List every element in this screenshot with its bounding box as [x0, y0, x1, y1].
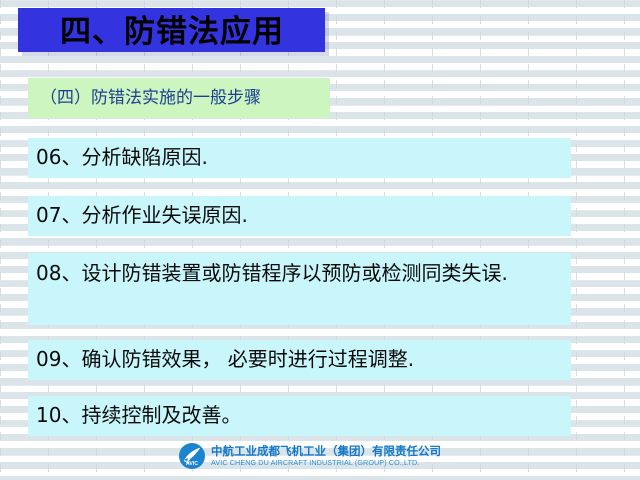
- page-title: 四、防错法应用: [60, 14, 284, 50]
- step-row: 06、分析缺陷原因.: [28, 138, 571, 178]
- slide-canvas: 四、防错法应用 （四）防错法实施的一般步骤 06、分析缺陷原因. 07、分析作业…: [0, 0, 640, 480]
- step-row: 08、设计防错装置或防错程序以预防或检测同类失误.: [28, 253, 571, 325]
- step-text-08: 08、设计防错装置或防错程序以预防或检测同类失误.: [36, 259, 566, 288]
- step-text-09: 09、确认防错效果， 必要时进行过程调整.: [36, 345, 414, 374]
- step-row: 09、确认防错效果， 必要时进行过程调整.: [28, 340, 571, 380]
- avic-logo-icon: AVIC: [178, 442, 206, 470]
- company-name-en: AVIC CHENG DU AIRCRAFT INDUSTRIAL (GROUP…: [211, 459, 441, 466]
- step-text-10: 10、持续控制及改善。: [36, 401, 241, 430]
- step-text-06: 06、分析缺陷原因.: [36, 143, 208, 172]
- svg-text:AVIC: AVIC: [186, 461, 198, 467]
- company-name-cn: 中航工业成都飞机工业（集团）有限责任公司: [211, 446, 441, 458]
- footer-logo: AVIC 中航工业成都飞机工业（集团）有限责任公司 AVIC CHENG DU …: [178, 441, 441, 471]
- slide-subtitle-box: （四）防错法实施的一般步骤: [28, 78, 330, 118]
- logo-text-block: 中航工业成都飞机工业（集团）有限责任公司 AVIC CHENG DU AIRCR…: [211, 446, 441, 467]
- step-row: 10、持续控制及改善。: [28, 396, 571, 436]
- slide-subtitle: （四）防错法实施的一般步骤: [40, 86, 261, 110]
- step-text-07: 07、分析作业失误原因.: [36, 201, 248, 230]
- slide-title-banner: 四、防错法应用: [18, 8, 325, 52]
- step-row: 07、分析作业失误原因.: [28, 196, 571, 236]
